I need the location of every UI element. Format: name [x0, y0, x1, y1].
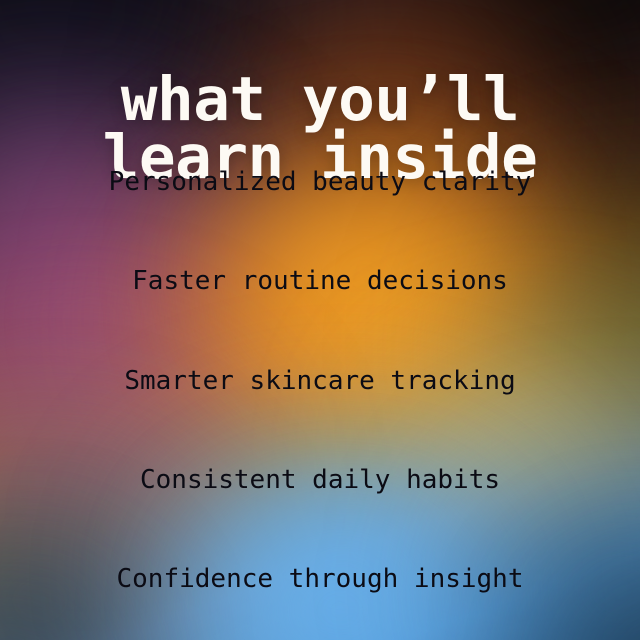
poster-content: what you’ll learn inside Personalized be… [0, 0, 640, 640]
list-item: Consistent daily habits [0, 466, 640, 495]
page-title-line-1: what you’ll [0, 71, 640, 129]
list-item: Smarter skincare tracking [0, 367, 640, 396]
list-item: Personalized beauty clarity [0, 168, 640, 197]
poster-canvas: what you’ll learn inside Personalized be… [0, 0, 640, 640]
list-item: Confidence through insight [0, 565, 640, 594]
benefits-list: Personalized beauty clarity Faster routi… [0, 168, 640, 594]
list-item: Faster routine decisions [0, 267, 640, 296]
